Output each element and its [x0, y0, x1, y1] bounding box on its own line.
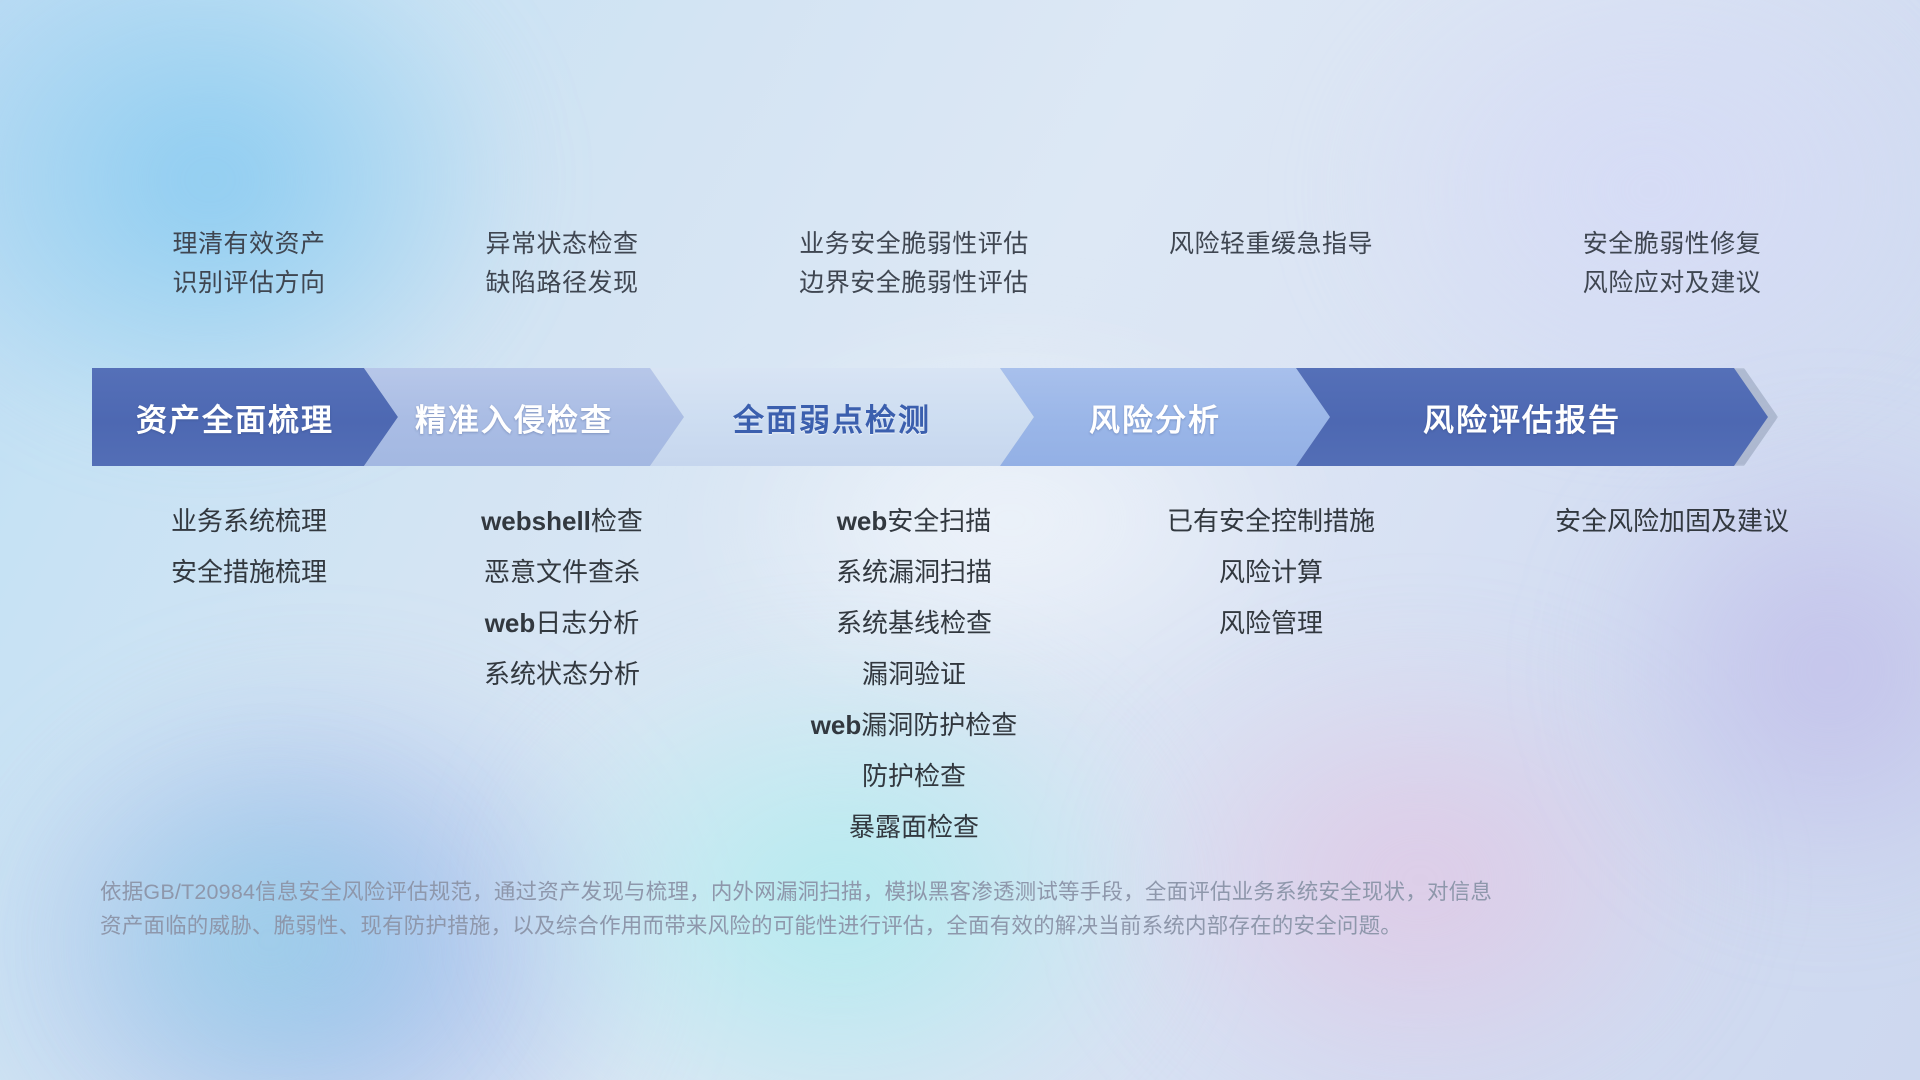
process-step-risk-analysis[interactable]: 风险分析 [1000, 368, 1330, 466]
bottom-items-weakness-detection: web安全扫描系统漏洞扫描系统基线检查漏洞验证web漏洞防护检查防护检查暴露面检… [722, 508, 1106, 840]
footer-line-2: 资产面临的威胁、脆弱性、现有防护措施，以及综合作用而带来风险的可能性进行评估，全… [100, 909, 1740, 943]
bottom-items-row: 业务系统梳理安全措施梳理webshell检查恶意文件查杀web日志分析系统状态分… [96, 508, 1824, 840]
process-step-label: 风险分析 [1000, 395, 1330, 440]
bottom-item: 防护检查 [862, 763, 966, 789]
bottom-item: 恶意文件查杀 [484, 559, 640, 585]
bottom-item: web安全扫描 [837, 508, 992, 534]
bottom-item: web日志分析 [485, 610, 640, 636]
bottom-item-keyword: web [485, 608, 536, 638]
top-notes-risk-analysis: 风险轻重缓急指导 [1106, 232, 1436, 342]
process-step-label: 全面弱点检测 [650, 395, 1034, 440]
top-note: 业务安全脆弱性评估 [799, 232, 1029, 257]
process-step-weakness-detection[interactable]: 全面弱点检测 [650, 368, 1034, 466]
process-step-asset-inventory[interactable]: 资产全面梳理 [92, 368, 398, 466]
bottom-item: 系统状态分析 [484, 661, 640, 687]
footer-line-1: 依据GB/T20984信息安全风险评估规范，通过资产发现与梳理，内外网漏洞扫描，… [100, 875, 1740, 909]
bottom-items-risk-analysis: 已有安全控制措施风险计算风险管理 [1106, 508, 1436, 636]
bottom-item: 系统漏洞扫描 [836, 559, 992, 585]
bottom-item: web漏洞防护检查 [811, 712, 1018, 738]
top-note: 异常状态检查 [485, 232, 638, 257]
bottom-item-keyword: webshell [481, 506, 591, 536]
process-step-intrusion-check[interactable]: 精准入侵检查 [364, 368, 684, 466]
top-note: 风险轻重缓急指导 [1169, 232, 1373, 257]
top-note: 理清有效资产 [172, 232, 325, 257]
bottom-item: 风险计算 [1219, 559, 1323, 585]
bottom-item: 暴露面检查 [849, 814, 979, 840]
bottom-items-intrusion-check: webshell检查恶意文件查杀web日志分析系统状态分析 [402, 508, 722, 687]
top-note: 缺陷路径发现 [485, 271, 638, 296]
top-note: 识别评估方向 [172, 271, 325, 296]
top-note: 安全脆弱性修复 [1583, 232, 1762, 257]
process-step-risk-report[interactable]: 风险评估报告 [1296, 368, 1768, 466]
footer-description: 依据GB/T20984信息安全风险评估规范，通过资产发现与梳理，内外网漏洞扫描，… [100, 875, 1740, 943]
process-step-label: 资产全面梳理 [92, 395, 398, 440]
bottom-item: 安全措施梳理 [171, 559, 327, 585]
bottom-items-asset-inventory: 业务系统梳理安全措施梳理 [96, 508, 402, 585]
bottom-item: 业务系统梳理 [171, 508, 327, 534]
process-chevron-band: 资产全面梳理精准入侵检查全面弱点检测风险分析风险评估报告 [92, 368, 1832, 466]
process-diagram: 理清有效资产识别评估方向异常状态检查缺陷路径发现业务安全脆弱性评估边界安全脆弱性… [0, 0, 1920, 1080]
top-note: 边界安全脆弱性评估 [799, 271, 1029, 296]
bottom-item: 已有安全控制措施 [1167, 508, 1375, 534]
top-notes-intrusion-check: 异常状态检查缺陷路径发现 [402, 232, 722, 342]
bottom-item: webshell检查 [481, 508, 643, 534]
bottom-item: 安全风险加固及建议 [1555, 508, 1789, 534]
process-step-label: 风险评估报告 [1296, 395, 1768, 440]
process-step-label: 精准入侵检查 [364, 395, 684, 440]
bottom-item: 漏洞验证 [862, 661, 966, 687]
top-notes-weakness-detection: 业务安全脆弱性评估边界安全脆弱性评估 [722, 232, 1106, 342]
top-notes-asset-inventory: 理清有效资产识别评估方向 [96, 232, 402, 342]
top-notes-row: 理清有效资产识别评估方向异常状态检查缺陷路径发现业务安全脆弱性评估边界安全脆弱性… [96, 232, 1824, 342]
bottom-item-keyword: web [811, 710, 862, 740]
top-notes-risk-report: 安全脆弱性修复风险应对及建议 [1436, 232, 1908, 342]
bottom-item: 系统基线检查 [836, 610, 992, 636]
bottom-items-risk-report: 安全风险加固及建议 [1436, 508, 1908, 534]
bottom-item-keyword: web [837, 506, 888, 536]
top-note: 风险应对及建议 [1583, 271, 1762, 296]
bottom-item: 风险管理 [1219, 610, 1323, 636]
